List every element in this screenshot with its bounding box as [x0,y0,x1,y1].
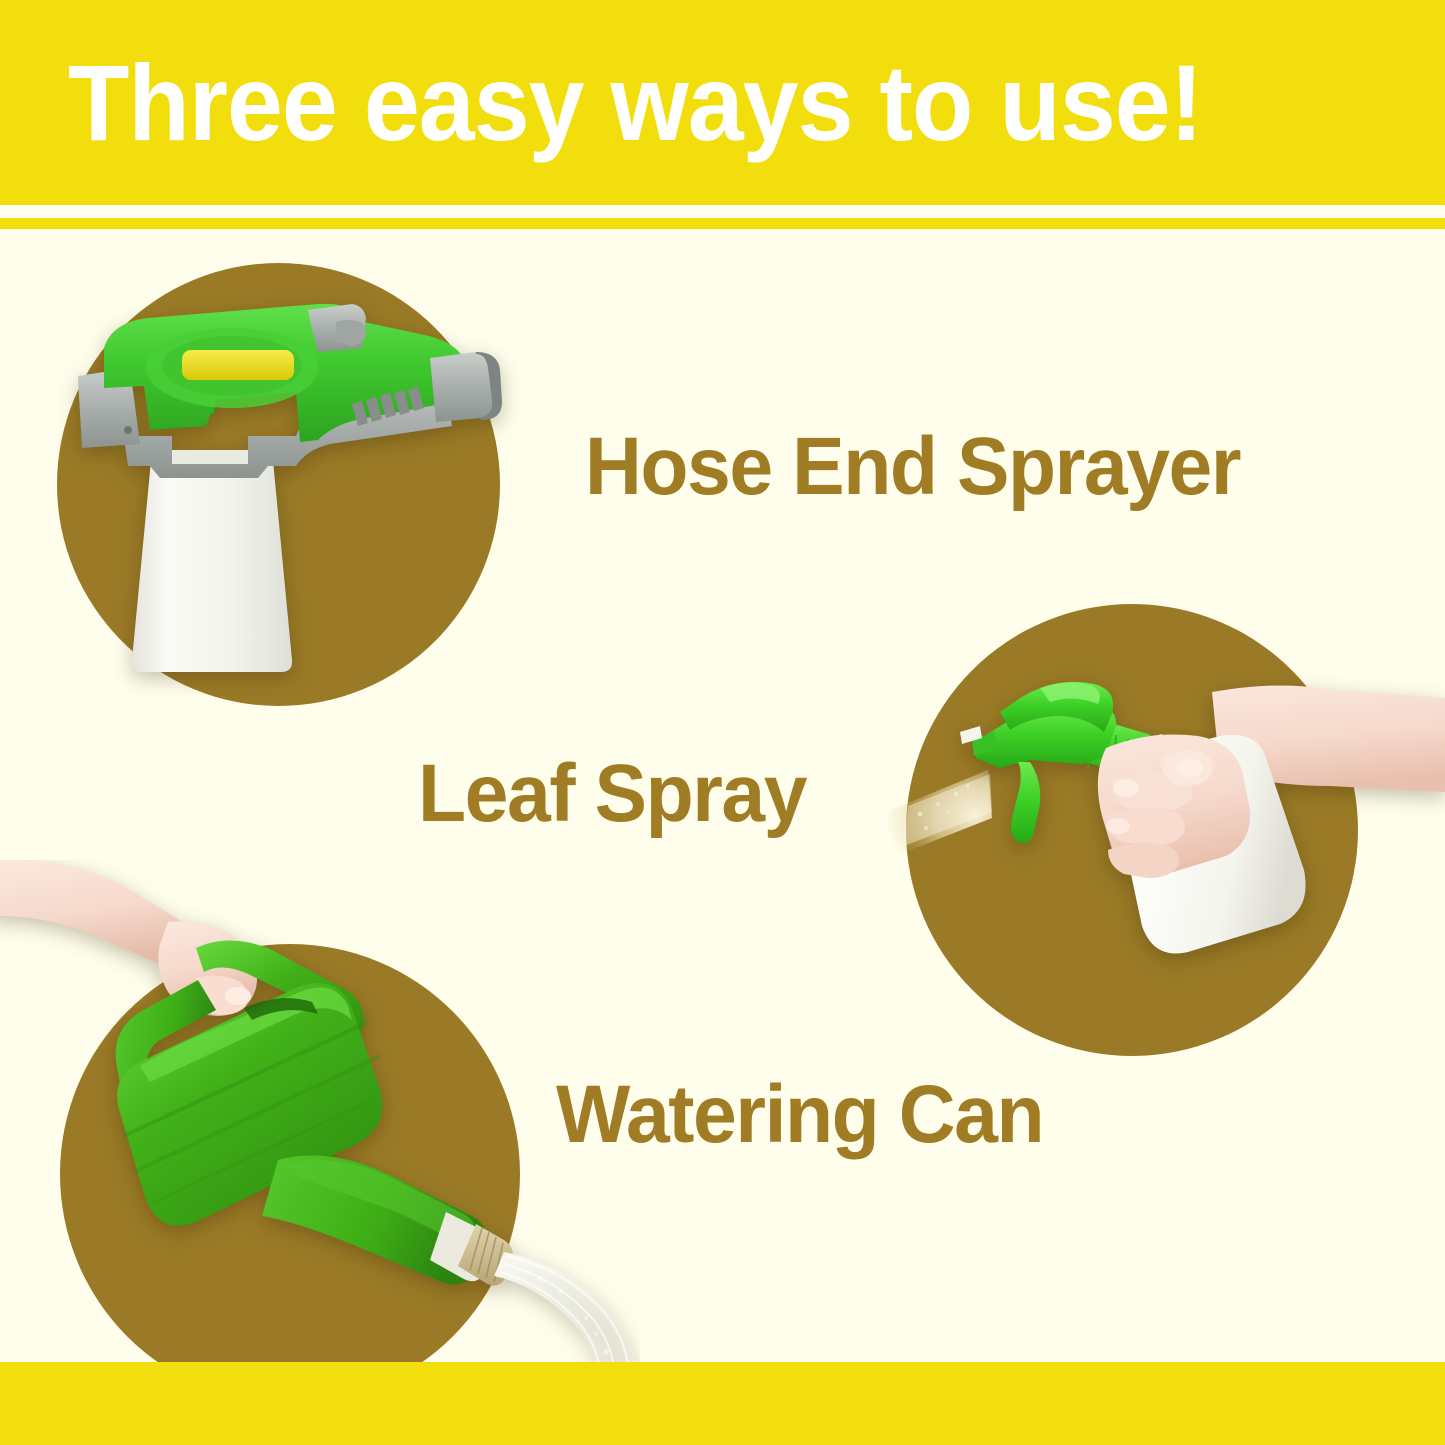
fingernail-middle [1106,818,1130,834]
watering-can-art-group [0,860,640,1408]
sprayer-screw-dot [124,426,132,434]
spray-bottle-art-group [960,682,1445,954]
fingernail-grip [225,987,251,1005]
footer-band [0,1362,1445,1445]
method-label-watering-can: Watering Can [556,1071,1043,1159]
illustration-hose-end-sprayer [0,230,560,750]
illustration-watering-can [0,860,640,1420]
method-label-hose-end-sprayer: Hose End Sprayer [585,423,1240,511]
illustration-leaf-spray [860,580,1445,1080]
sprayer-yellow-indicator [182,350,294,380]
header-divider-rule [0,218,1445,229]
infographic-canvas: Three easy ways to use! [0,0,1445,1445]
spray-mist [880,770,992,862]
fingernail-thumb [1177,759,1203,777]
sprayer-art-group [78,304,502,672]
sprayer-bottle [132,450,292,672]
method-label-leaf-spray: Leaf Spray [418,750,806,838]
page-title: Three easy ways to use! [68,44,1305,162]
spray-trigger-lever [1011,762,1040,843]
finger-ring [1108,843,1179,878]
fingernail-index [1113,779,1139,797]
